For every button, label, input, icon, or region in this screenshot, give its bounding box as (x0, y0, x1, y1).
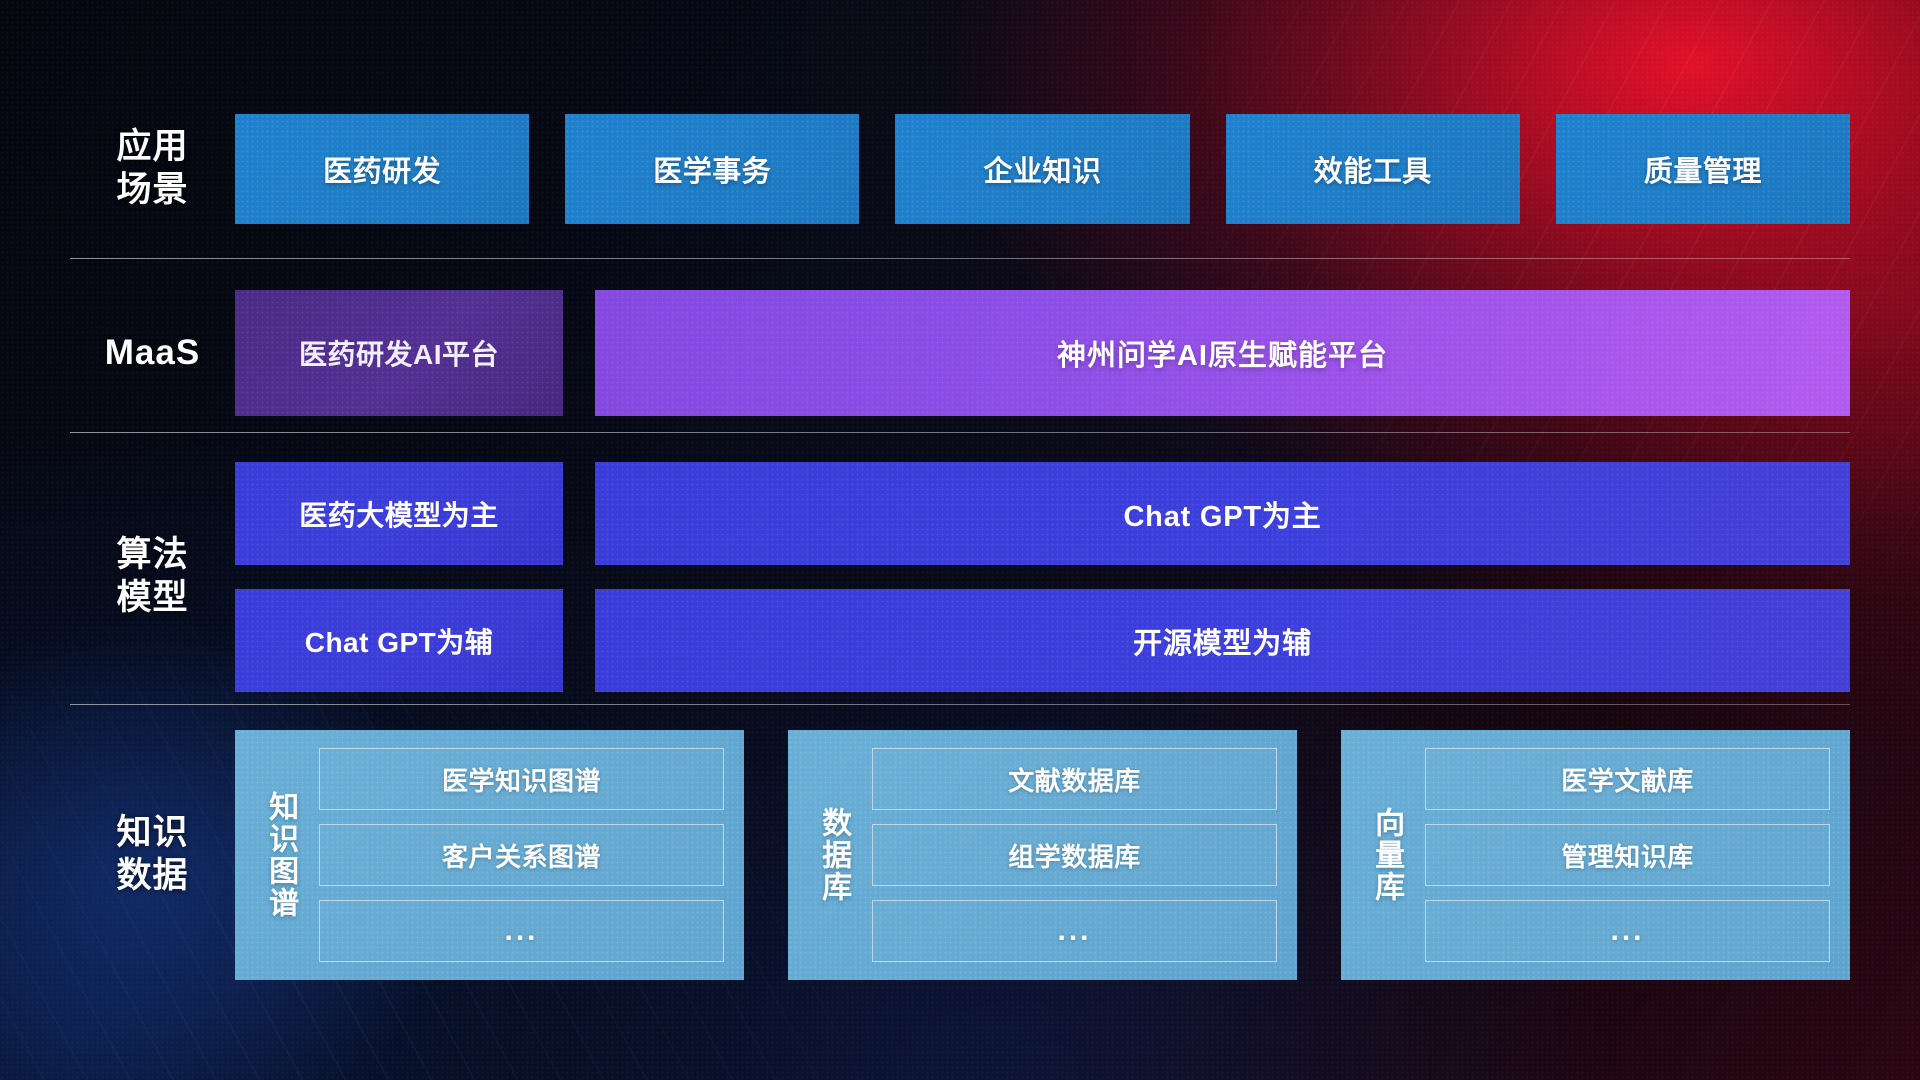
app-card-label: 效能工具 (1314, 148, 1432, 190)
knowledge-item-more[interactable]: ... (319, 900, 724, 962)
algo-card-label: 开源模型为辅 (1133, 620, 1312, 662)
row-label-algorithms: 算法 模型 (70, 534, 235, 619)
knowledge-grid: 知识图谱 医学知识图谱 客户关系图谱 ... 数据库 文献数据库 组学数据库 .… (235, 730, 1850, 980)
knowledge-card-knowledge-graph[interactable]: 知识图谱 医学知识图谱 客户关系图谱 ... (235, 730, 744, 980)
app-card-medical-affairs[interactable]: 医学事务 (565, 114, 859, 224)
app-card-label: 企业知识 (983, 148, 1101, 190)
app-card-label: 质量管理 (1644, 148, 1762, 190)
app-card-enterprise-knowledge[interactable]: 企业知识 (895, 114, 1189, 224)
maas-card-shenzhou-wenxue-platform[interactable]: 神州问学AI原生赋能平台 (595, 290, 1850, 416)
row-maas: MaaS 医药研发AI平台 神州问学AI原生赋能平台 (70, 290, 1850, 416)
app-card-efficiency-tools[interactable]: 效能工具 (1226, 114, 1520, 224)
knowledge-cards-container: 知识图谱 医学知识图谱 客户关系图谱 ... 数据库 文献数据库 组学数据库 .… (235, 730, 1850, 980)
maas-cards-container: 医药研发AI平台 神州问学AI原生赋能平台 (235, 290, 1850, 416)
row-algorithm-models: 算法 模型 医药大模型为主 Chat GPT为主 Chat GPT为辅 (70, 462, 1850, 692)
knowledge-item-more[interactable]: ... (872, 900, 1277, 962)
knowledge-card-title: 知识图谱 (249, 748, 311, 962)
app-card-drug-rnd[interactable]: 医药研发 (235, 114, 529, 224)
divider-algorithms-knowledge (70, 704, 1850, 705)
knowledge-item-customer-relation-graph[interactable]: 客户关系图谱 (319, 824, 724, 886)
knowledge-card-title: 数据库 (802, 748, 864, 962)
algorithm-row-primary: 医药大模型为主 Chat GPT为主 (235, 462, 1850, 565)
application-cards-container: 医药研发 医学事务 企业知识 效能工具 质量管理 (235, 114, 1850, 224)
algo-card-chatgpt-primary[interactable]: Chat GPT为主 (595, 462, 1850, 565)
knowledge-item-medical-literature-store[interactable]: 医学文献库 (1425, 748, 1830, 810)
algo-card-label: Chat GPT为主 (1123, 493, 1321, 535)
knowledge-card-database[interactable]: 数据库 文献数据库 组学数据库 ... (788, 730, 1297, 980)
maas-card-label: 神州问学AI原生赋能平台 (1057, 332, 1388, 374)
maas-grid: 医药研发AI平台 神州问学AI原生赋能平台 (235, 290, 1850, 416)
knowledge-item-more[interactable]: ... (1425, 900, 1830, 962)
app-card-label: 医学事务 (653, 148, 771, 190)
knowledge-item-omics-database[interactable]: 组学数据库 (872, 824, 1277, 886)
row-label-applications: 应用 场景 (70, 126, 235, 211)
app-card-quality-management[interactable]: 质量管理 (1556, 114, 1850, 224)
architecture-diagram: 应用 场景 医药研发 医学事务 企业知识 效能工具 (0, 0, 1920, 1080)
knowledge-card-title: 向量库 (1355, 748, 1417, 962)
row-label-maas: MaaS (70, 332, 235, 375)
algorithm-cards-container: 医药大模型为主 Chat GPT为主 Chat GPT为辅 开源模型为辅 (235, 462, 1850, 692)
slide-canvas: 应用 场景 医药研发 医学事务 企业知识 效能工具 (0, 0, 1920, 1080)
algorithm-stack: 医药大模型为主 Chat GPT为主 Chat GPT为辅 开源模型为辅 (235, 462, 1850, 692)
maas-card-label: 医药研发AI平台 (299, 333, 499, 373)
row-knowledge-data: 知识 数据 知识图谱 医学知识图谱 客户关系图谱 ... 数据库 (70, 730, 1850, 980)
knowledge-item-management-knowledge-store[interactable]: 管理知识库 (1425, 824, 1830, 886)
app-card-label: 医药研发 (323, 148, 441, 190)
row-label-knowledge: 知识 数据 (70, 812, 235, 897)
algo-card-chatgpt-secondary[interactable]: Chat GPT为辅 (235, 589, 563, 692)
knowledge-card-items: 医学知识图谱 客户关系图谱 ... (311, 748, 724, 962)
knowledge-item-medical-knowledge-graph[interactable]: 医学知识图谱 (319, 748, 724, 810)
application-grid: 医药研发 医学事务 企业知识 效能工具 质量管理 (235, 114, 1850, 224)
algo-card-label: Chat GPT为辅 (305, 621, 494, 661)
algo-card-label: 医药大模型为主 (299, 494, 499, 534)
algo-card-pharma-llm-primary[interactable]: 医药大模型为主 (235, 462, 563, 565)
knowledge-card-items: 医学文献库 管理知识库 ... (1417, 748, 1830, 962)
maas-card-drug-rnd-ai-platform[interactable]: 医药研发AI平台 (235, 290, 563, 416)
knowledge-card-items: 文献数据库 组学数据库 ... (864, 748, 1277, 962)
knowledge-card-vector-store[interactable]: 向量库 医学文献库 管理知识库 ... (1341, 730, 1850, 980)
algorithm-row-secondary: Chat GPT为辅 开源模型为辅 (235, 589, 1850, 692)
algo-card-opensource-secondary[interactable]: 开源模型为辅 (595, 589, 1850, 692)
divider-maas-algorithms (70, 432, 1850, 433)
row-application-scenarios: 应用 场景 医药研发 医学事务 企业知识 效能工具 (70, 114, 1850, 224)
knowledge-item-literature-database[interactable]: 文献数据库 (872, 748, 1277, 810)
divider-applications-maas (70, 258, 1850, 259)
